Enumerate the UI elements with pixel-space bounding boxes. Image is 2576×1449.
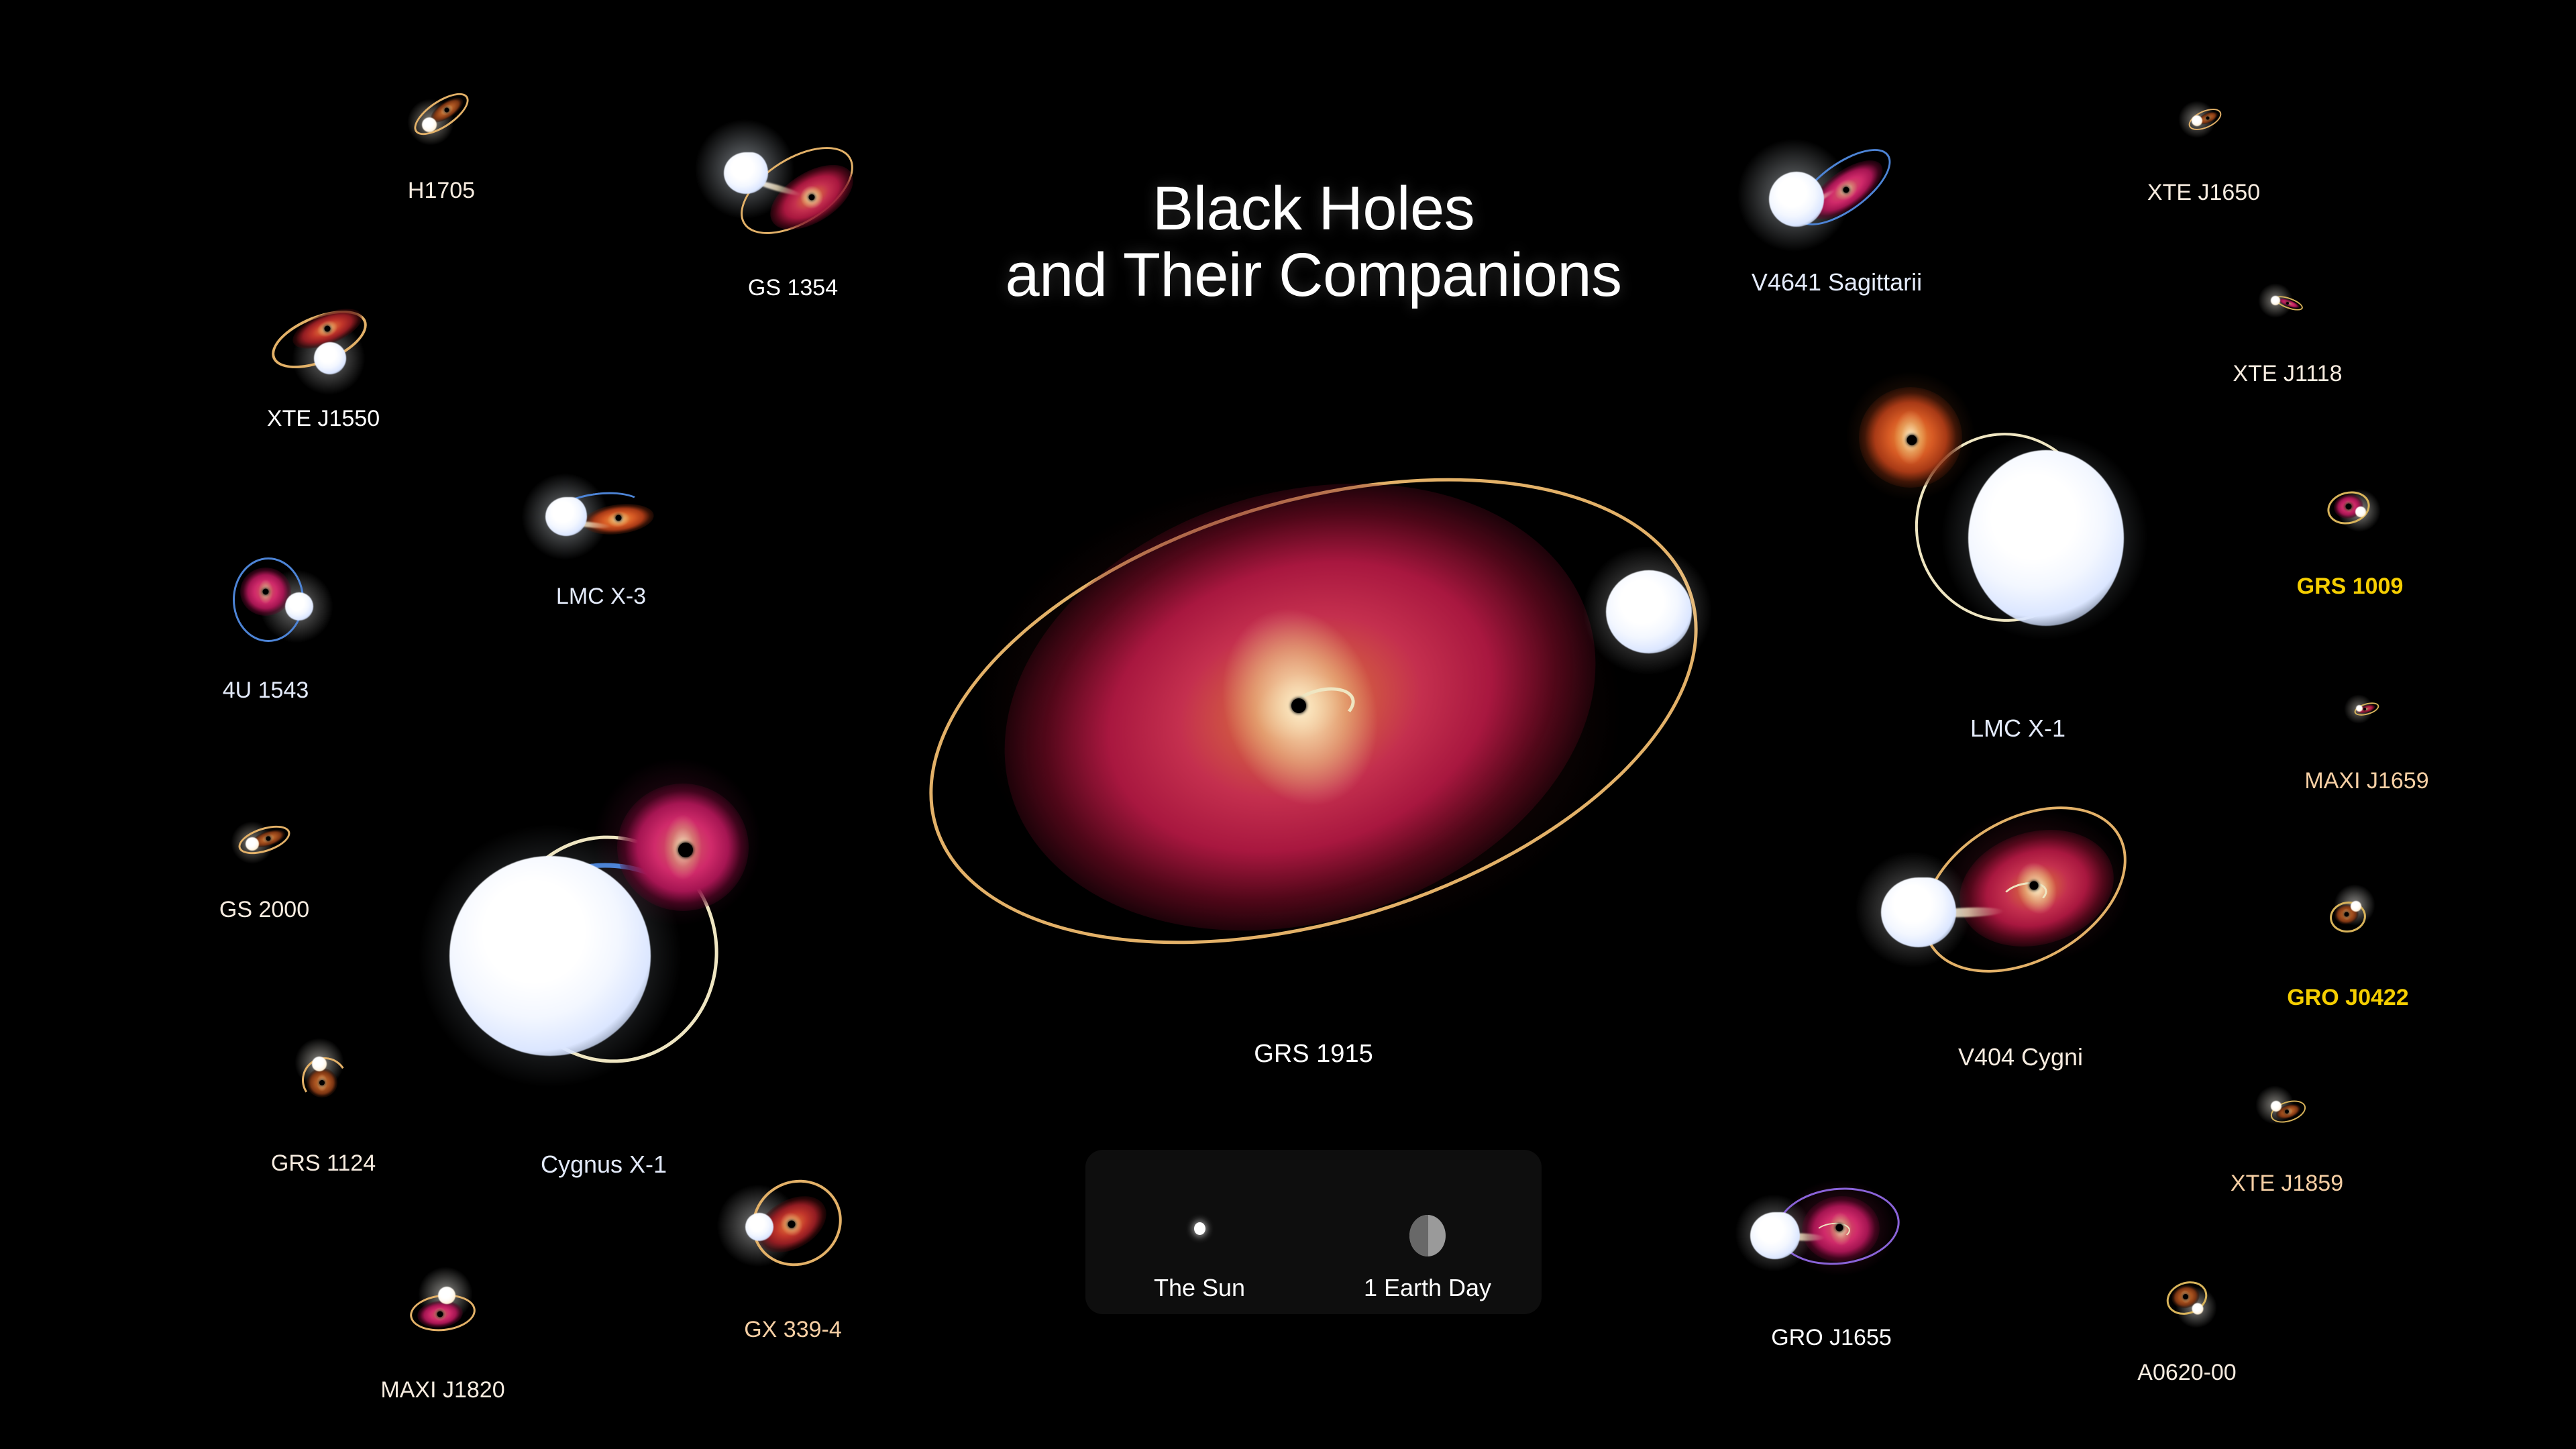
companion-star	[312, 1057, 327, 1071]
companion-star	[246, 837, 259, 851]
companion-star	[2356, 705, 2363, 712]
page-title-line1: Black Holes	[1005, 176, 1621, 242]
companion-star	[1881, 877, 1956, 947]
scale-legend-panel: The Sun 1 Earth Day	[1085, 1150, 1542, 1314]
black-hole	[2346, 504, 2352, 510]
black-hole	[616, 515, 622, 521]
system-label: MAXI J1820	[380, 1377, 504, 1403]
earth-day-icon	[1409, 1215, 1446, 1256]
companion-star	[745, 1213, 773, 1241]
black-hole	[2206, 117, 2210, 120]
black-hole	[1836, 1224, 1843, 1232]
companion-star	[2192, 1303, 2204, 1315]
system-label: XTE J1550	[267, 406, 380, 432]
system-label: MAXI J1659	[2304, 768, 2428, 794]
system-label: XTE J1650	[2147, 180, 2260, 206]
black-hole	[2286, 302, 2289, 305]
legend-item-earth-day: 1 Earth Day	[1313, 1138, 1542, 1326]
companion-star	[2355, 506, 2366, 517]
black-hole	[2363, 708, 2366, 710]
companion-star	[422, 117, 437, 132]
black-hole	[809, 195, 815, 201]
system-label: GRO J1655	[1771, 1325, 1892, 1351]
black-hole	[2183, 1294, 2188, 1299]
legend-earth-day-label: 1 Earth Day	[1364, 1274, 1491, 1302]
system-label: GRS 1915	[1254, 1040, 1373, 1069]
system-label: GRO J0422	[2287, 985, 2408, 1011]
system-label: 4U 1543	[223, 678, 309, 704]
companion-star	[438, 1287, 455, 1304]
black-hole	[319, 1080, 325, 1085]
companion-star	[2271, 1101, 2282, 1112]
system-label: A0620-00	[2137, 1360, 2236, 1386]
system-label: LMC X-1	[1970, 714, 2065, 743]
system-label: GX 339-4	[744, 1317, 842, 1343]
earth-day-shadow	[1409, 1215, 1428, 1256]
black-hole	[437, 1311, 443, 1318]
page-title: Black Holes and Their Companions	[1005, 176, 1621, 309]
system-label: XTE J1118	[2233, 361, 2342, 387]
companion-star	[2192, 115, 2202, 126]
black-hole	[263, 589, 269, 595]
companion-star	[314, 342, 346, 374]
companion-star	[1606, 570, 1692, 653]
system-label: V4641 Sagittarii	[1752, 268, 1922, 297]
black-hole	[678, 843, 693, 857]
companion-star	[545, 497, 587, 536]
black-hole	[1843, 187, 1849, 193]
system-label: V404 Cygni	[1958, 1043, 2083, 1071]
companion-star	[1968, 450, 2124, 626]
companion-star	[1769, 172, 1824, 227]
black-hole	[325, 326, 331, 332]
black-hole	[1291, 698, 1306, 713]
black-hole	[2030, 881, 2039, 890]
system-label: GRS 1009	[2297, 574, 2404, 600]
sun-dot-icon	[1194, 1222, 1205, 1235]
system-label: LMC X-3	[556, 584, 646, 610]
black-hole	[2345, 912, 2349, 917]
companion-star	[724, 152, 768, 194]
page-title-line2: and Their Companions	[1005, 242, 1621, 309]
black-hole	[445, 108, 449, 113]
companion-star	[449, 856, 651, 1056]
system-label: XTE J1859	[2231, 1171, 2343, 1197]
black-hole	[788, 1221, 796, 1228]
system-label: Cygnus X-1	[541, 1150, 667, 1179]
companion-star	[2351, 901, 2361, 912]
starfield-canvas: Black Holes and Their Companions H1705 G…	[0, 0, 2576, 1449]
system-label: GS 1354	[748, 275, 838, 301]
black-hole	[2285, 1110, 2289, 1114]
companion-star	[2271, 296, 2280, 305]
companion-star	[285, 592, 313, 621]
legend-sun-label: The Sun	[1154, 1274, 1245, 1302]
system-label: H1705	[408, 178, 475, 204]
black-hole	[266, 837, 271, 841]
system-label: GS 2000	[219, 897, 309, 923]
legend-item-sun: The Sun	[1085, 1138, 1313, 1326]
system-label: GRS 1124	[271, 1150, 376, 1177]
black-hole	[1907, 435, 1917, 445]
companion-star	[1750, 1212, 1800, 1259]
